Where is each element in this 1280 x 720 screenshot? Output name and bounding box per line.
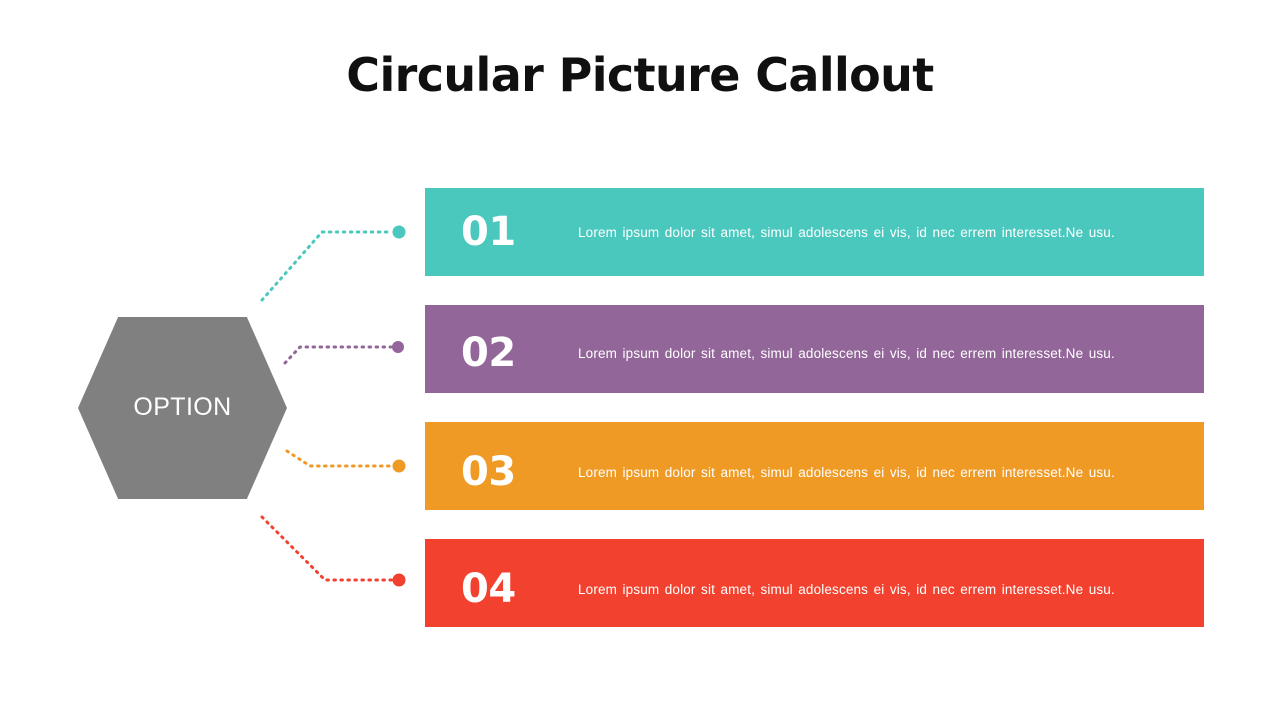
callout-text-01: Lorem ipsum dolor sit amet, simul adoles… [578, 188, 1178, 276]
page-title: Circular Picture Callout [0, 46, 1280, 104]
connector-dot-04 [393, 574, 406, 587]
callout-number-01: 01 [461, 188, 516, 278]
connector-dot-02 [392, 341, 404, 353]
connector-line-02 [285, 347, 391, 363]
callout-row-03[interactable]: 03 Lorem ipsum dolor sit amet, simul ado… [425, 422, 1204, 510]
connector-line-03 [287, 451, 392, 466]
callout-text-04: Lorem ipsum dolor sit amet, simul adoles… [578, 539, 1178, 633]
callout-number-03: 03 [461, 422, 516, 516]
callout-text-03: Lorem ipsum dolor sit amet, simul adoles… [578, 422, 1178, 516]
connector-dot-03 [393, 460, 406, 473]
connector-dot-01 [393, 226, 406, 239]
connector-line-01 [262, 232, 392, 300]
callout-number-04: 04 [461, 539, 516, 633]
slide-canvas: Circular Picture Callout OPTION 01 Lorem… [0, 0, 1280, 720]
callout-row-02[interactable]: 02 Lorem ipsum dolor sit amet, simul ado… [425, 305, 1204, 393]
callout-row-04[interactable]: 04 Lorem ipsum dolor sit amet, simul ado… [425, 539, 1204, 627]
connector-line-04 [262, 517, 392, 580]
option-hexagon[interactable]: OPTION [78, 317, 287, 499]
hexagon-label: OPTION [78, 317, 287, 499]
callout-number-02: 02 [461, 305, 516, 397]
callout-row-01[interactable]: 01 Lorem ipsum dolor sit amet, simul ado… [425, 188, 1204, 276]
callout-text-02: Lorem ipsum dolor sit amet, simul adoles… [578, 305, 1178, 397]
